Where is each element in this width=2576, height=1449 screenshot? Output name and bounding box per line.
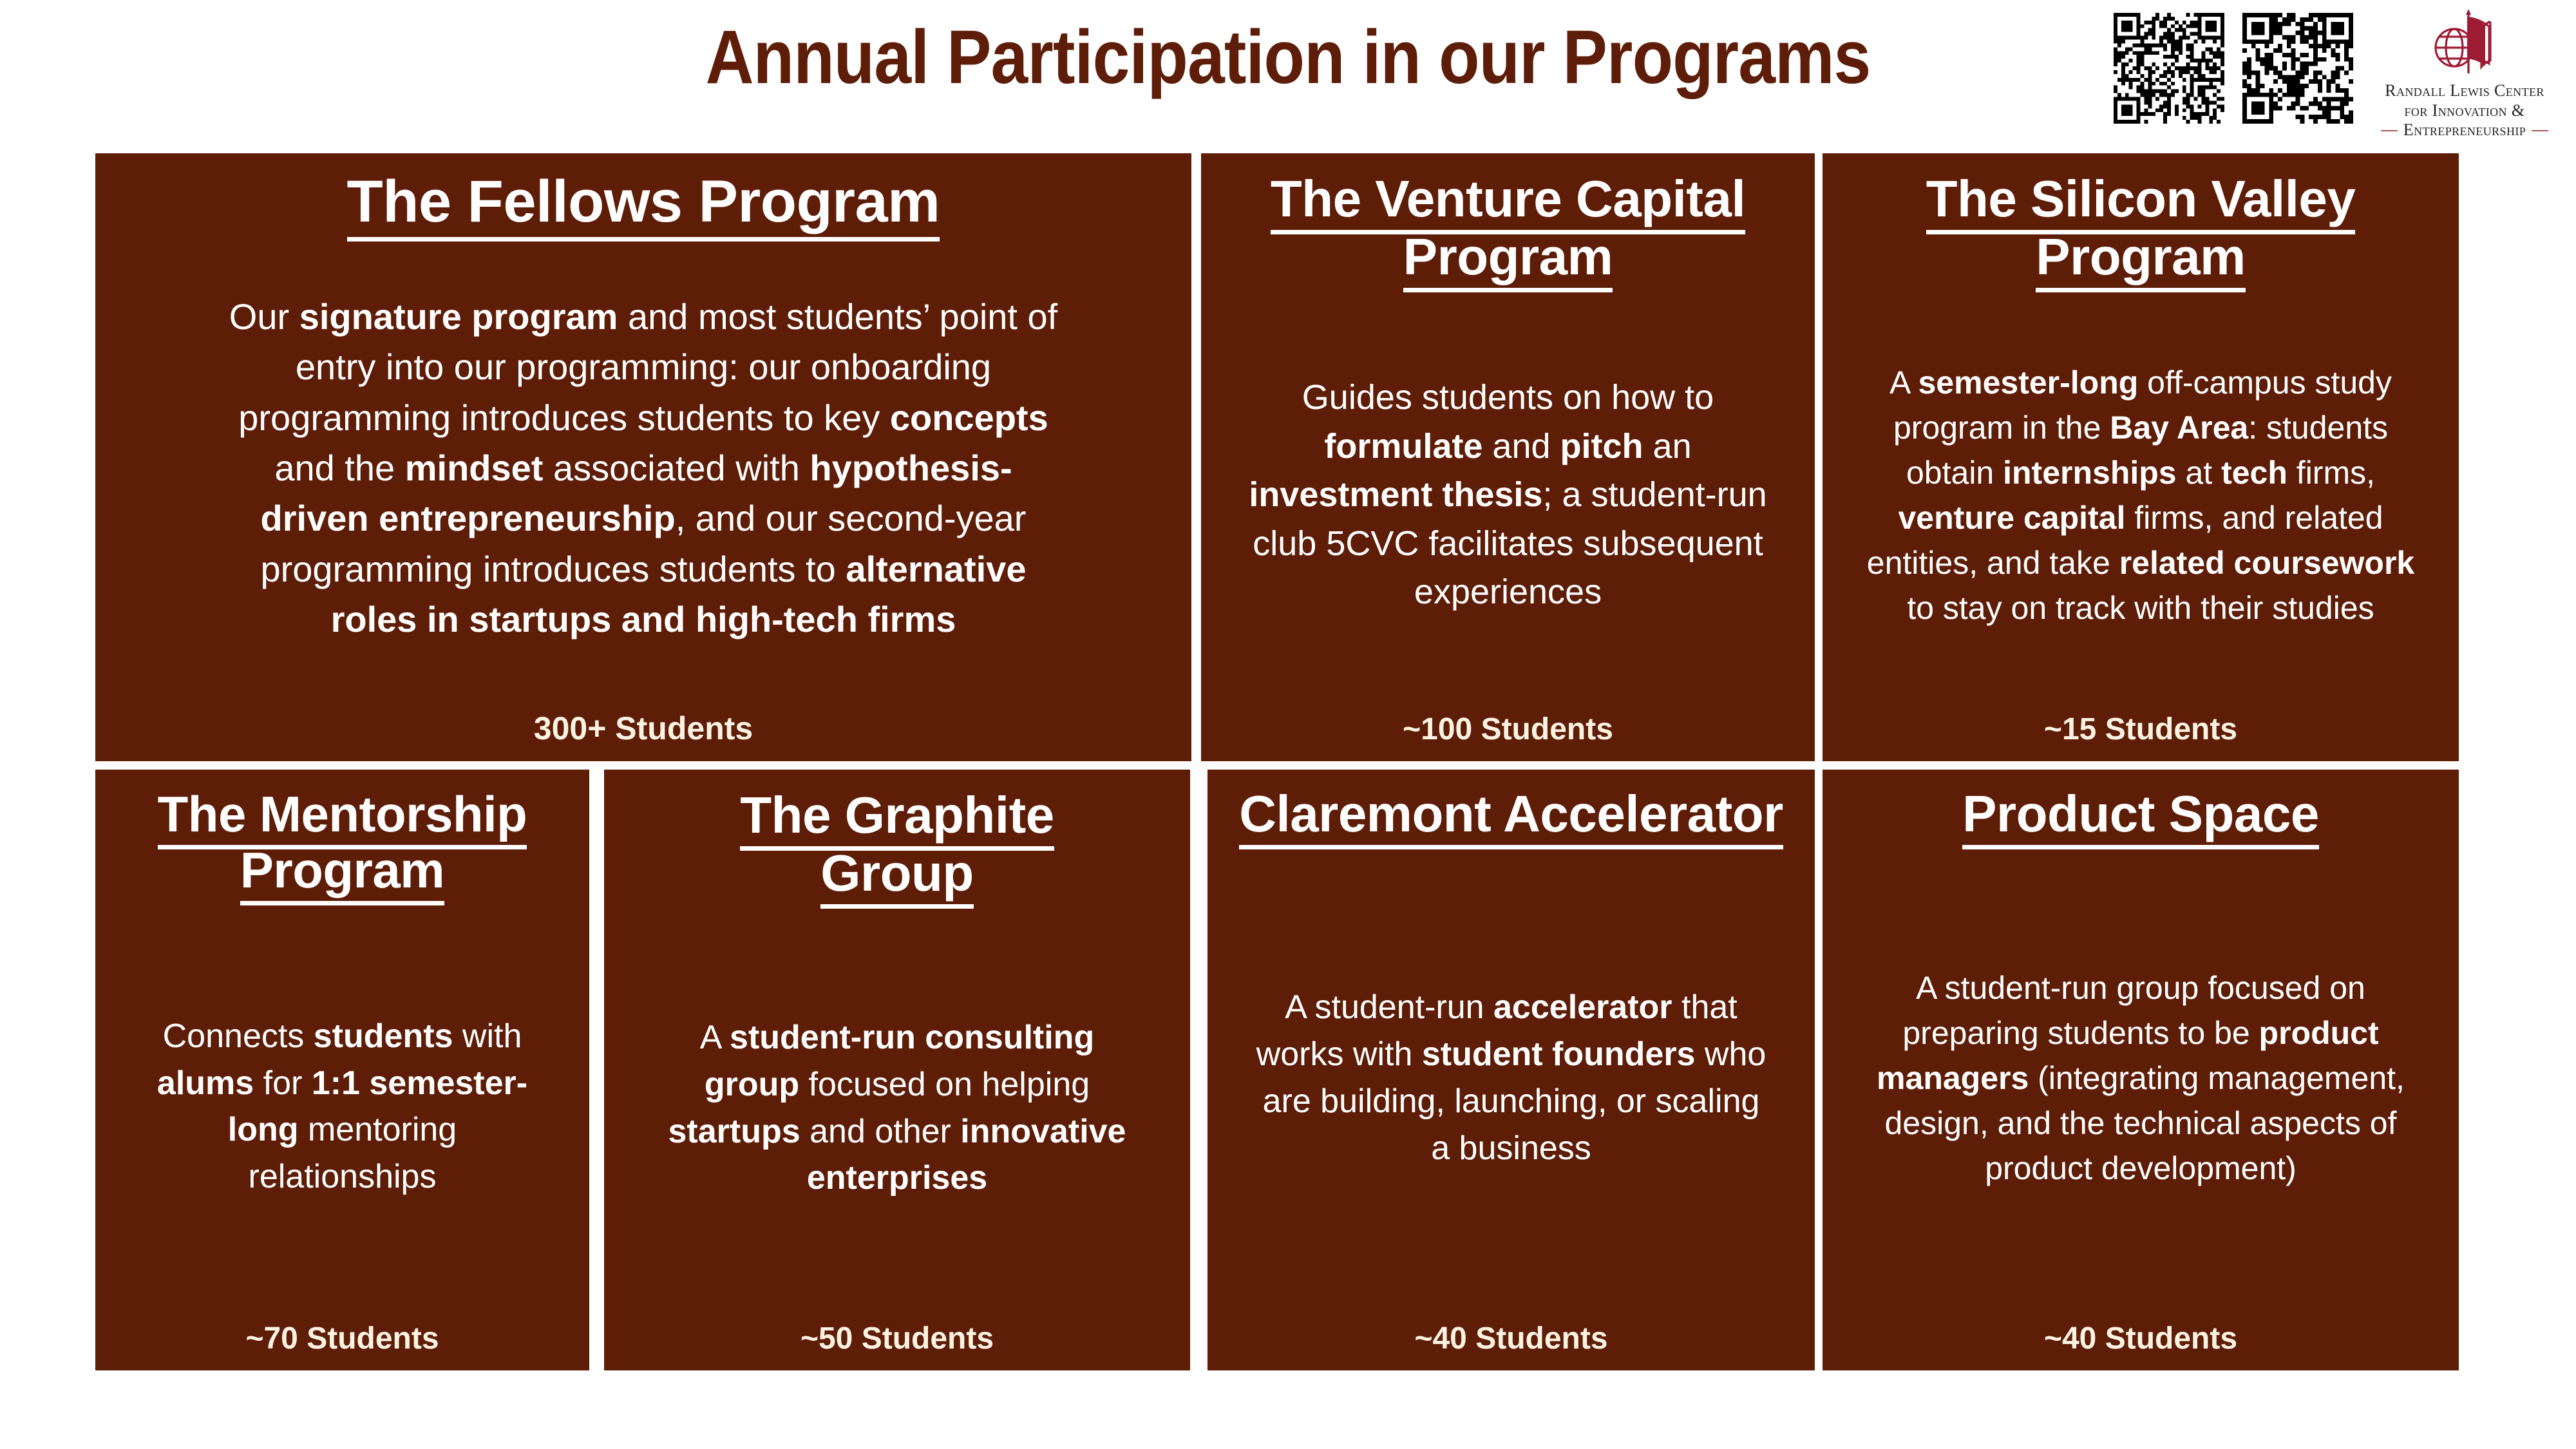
logo-wordmark: Randall Lewis Center for Innovation & En… xyxy=(2381,81,2548,140)
card-description: Our signature program and most students’… xyxy=(112,234,1175,702)
logo-line-2: for Innovation & xyxy=(2381,101,2548,121)
card-title: The GraphiteGroup xyxy=(740,786,1054,903)
organization-logo: Randall Lewis Center for Innovation & En… xyxy=(2371,4,2558,140)
program-card-product-space[interactable]: Product Space A student-run group focuse… xyxy=(1823,770,2459,1370)
card-title: The MentorshipProgram xyxy=(158,786,527,900)
card-student-count: ~40 Students xyxy=(1839,1321,2442,1356)
card-title: The Fellows Program xyxy=(347,170,940,234)
program-card-silicon-valley[interactable]: The Silicon ValleyProgram A semester-lon… xyxy=(1823,153,2459,761)
program-card-mentorship[interactable]: The MentorshipProgram Connects students … xyxy=(95,770,589,1370)
card-student-count: 300+ Students xyxy=(112,710,1175,747)
card-description: A student-run accelerator that works wit… xyxy=(1224,843,1798,1313)
card-description: A semester-long off-campus study program… xyxy=(1839,287,2442,704)
logo-line-1: Randall Lewis Center xyxy=(2381,81,2548,101)
logo-line-3-wrap: Entrepreneurship xyxy=(2381,120,2548,140)
qr-code-left[interactable] xyxy=(2114,13,2224,124)
logo-rule-left xyxy=(2381,130,2398,131)
program-card-venture-capital[interactable]: The Venture CapitalProgram Guides studen… xyxy=(1201,153,1815,761)
card-title: Product Space xyxy=(1962,786,2319,843)
card-title: Claremont Accelerator xyxy=(1239,786,1783,843)
card-student-count: ~15 Students xyxy=(1839,712,2442,747)
card-description: Guides students on how to formulate and … xyxy=(1218,287,1798,704)
card-student-count: ~100 Students xyxy=(1218,712,1798,747)
card-student-count: ~40 Students xyxy=(1224,1321,1798,1356)
program-card-graphite-group[interactable]: The GraphiteGroup A student-run consulti… xyxy=(604,770,1190,1370)
card-description: Connects students with alums for 1:1 sem… xyxy=(112,900,573,1313)
qr-code-right[interactable] xyxy=(2242,13,2353,124)
card-student-count: ~70 Students xyxy=(112,1321,573,1356)
brand-header: Randall Lewis Center for Innovation & En… xyxy=(2114,4,2558,133)
logo-rule-right xyxy=(2532,130,2548,131)
card-student-count: ~50 Students xyxy=(621,1321,1173,1356)
page-title: Annual Participation in our Programs xyxy=(155,18,2421,98)
card-description: A student-run group focused on preparing… xyxy=(1839,843,2442,1313)
card-title: The Venture CapitalProgram xyxy=(1271,170,1745,287)
card-title: The Silicon ValleyProgram xyxy=(1926,170,2356,287)
globe-book-emblem xyxy=(2430,6,2499,79)
logo-line-3: Entrepreneurship xyxy=(2403,120,2526,140)
program-card-fellows[interactable]: The Fellows Program Our signature progra… xyxy=(95,153,1191,761)
program-card-claremont-accelerator[interactable]: Claremont Accelerator A student-run acce… xyxy=(1207,770,1815,1370)
card-description: A student-run consulting group focused o… xyxy=(621,903,1173,1313)
